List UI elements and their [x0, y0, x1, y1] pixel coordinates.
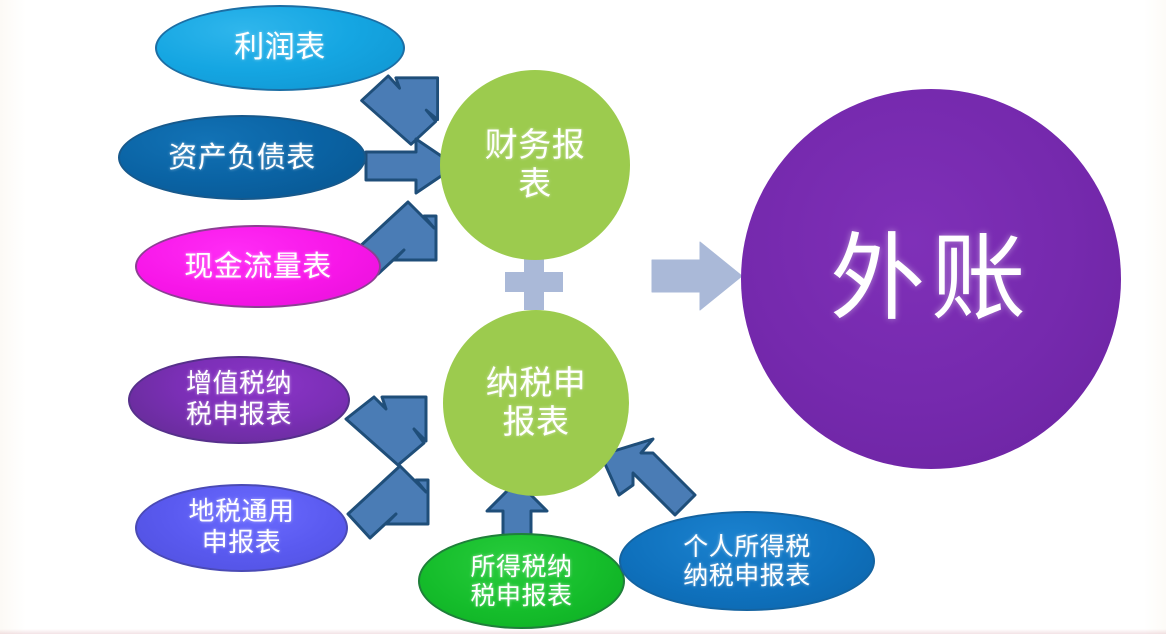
node-external-books[interactable]: 外账 — [741, 89, 1121, 469]
node-cash-flow-statement[interactable]: 现金流量表 — [135, 225, 381, 308]
arrow-vat-to-taxreturn — [340, 395, 450, 477]
node-local-tax-return[interactable]: 地税通用 申报表 — [135, 484, 348, 572]
node-tax-returns[interactable]: 纳税申 报表 — [443, 310, 629, 496]
node-financial-reports[interactable]: 财务报 表 — [440, 70, 630, 260]
node-personal-income-tax-return[interactable]: 个人所得税 纳税申报表 — [619, 511, 875, 611]
arrow-localtax-to-taxreturn — [340, 450, 452, 540]
plus-operator-icon — [505, 252, 563, 310]
diagram-canvas: 利润表 资产负债表 现金流量表 增值税纳 税申报表 地税通用 申报表 财务报 表… — [0, 0, 1166, 634]
node-vat-tax-return[interactable]: 增值税纳 税申报表 — [128, 356, 350, 444]
arrow-reports-to-external — [650, 238, 746, 314]
node-income-tax-return[interactable]: 所得税纳 税申报表 — [418, 533, 625, 629]
node-profit-statement[interactable]: 利润表 — [155, 5, 405, 91]
node-balance-sheet[interactable]: 资产负债表 — [118, 115, 366, 200]
